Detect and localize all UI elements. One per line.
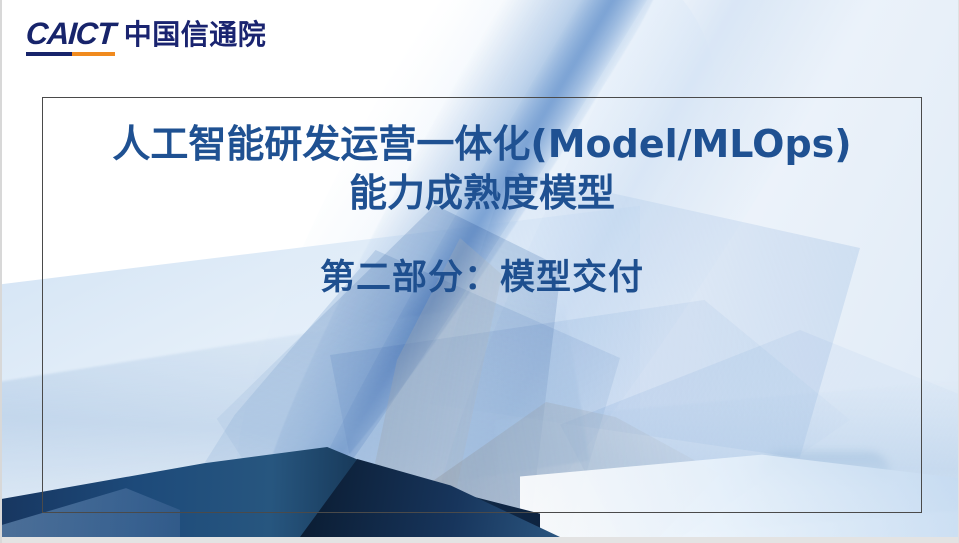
presentation-slide: CAICT 中国信通院 人工智能研发运营一体化(Model/MLOps) 能力成… <box>0 0 959 543</box>
logo-mark: CAICT <box>26 18 115 56</box>
title-block: 人工智能研发运营一体化(Model/MLOps) 能力成熟度模型 <box>43 120 921 217</box>
bottom-gray-strip <box>0 537 959 543</box>
logo-chinese-name: 中国信通院 <box>124 21 267 56</box>
content-frame: 人工智能研发运营一体化(Model/MLOps) 能力成熟度模型 第二部分：模型… <box>42 97 922 513</box>
slide-title: 人工智能研发运营一体化(Model/MLOps) 能力成熟度模型 <box>43 120 921 217</box>
subtitle-block: 第二部分：模型交付 <box>43 257 921 299</box>
page-edge-left <box>0 0 2 543</box>
logo-underline-accent <box>72 52 115 56</box>
logo-acronym: CAICT <box>25 18 116 49</box>
slide-subtitle: 第二部分：模型交付 <box>43 257 921 299</box>
logo-underline-primary <box>26 52 72 56</box>
caict-logo: CAICT 中国信通院 <box>26 18 266 56</box>
content-frame-inner: 人工智能研发运营一体化(Model/MLOps) 能力成熟度模型 第二部分：模型… <box>43 98 921 512</box>
logo-underline-icon <box>26 52 115 56</box>
